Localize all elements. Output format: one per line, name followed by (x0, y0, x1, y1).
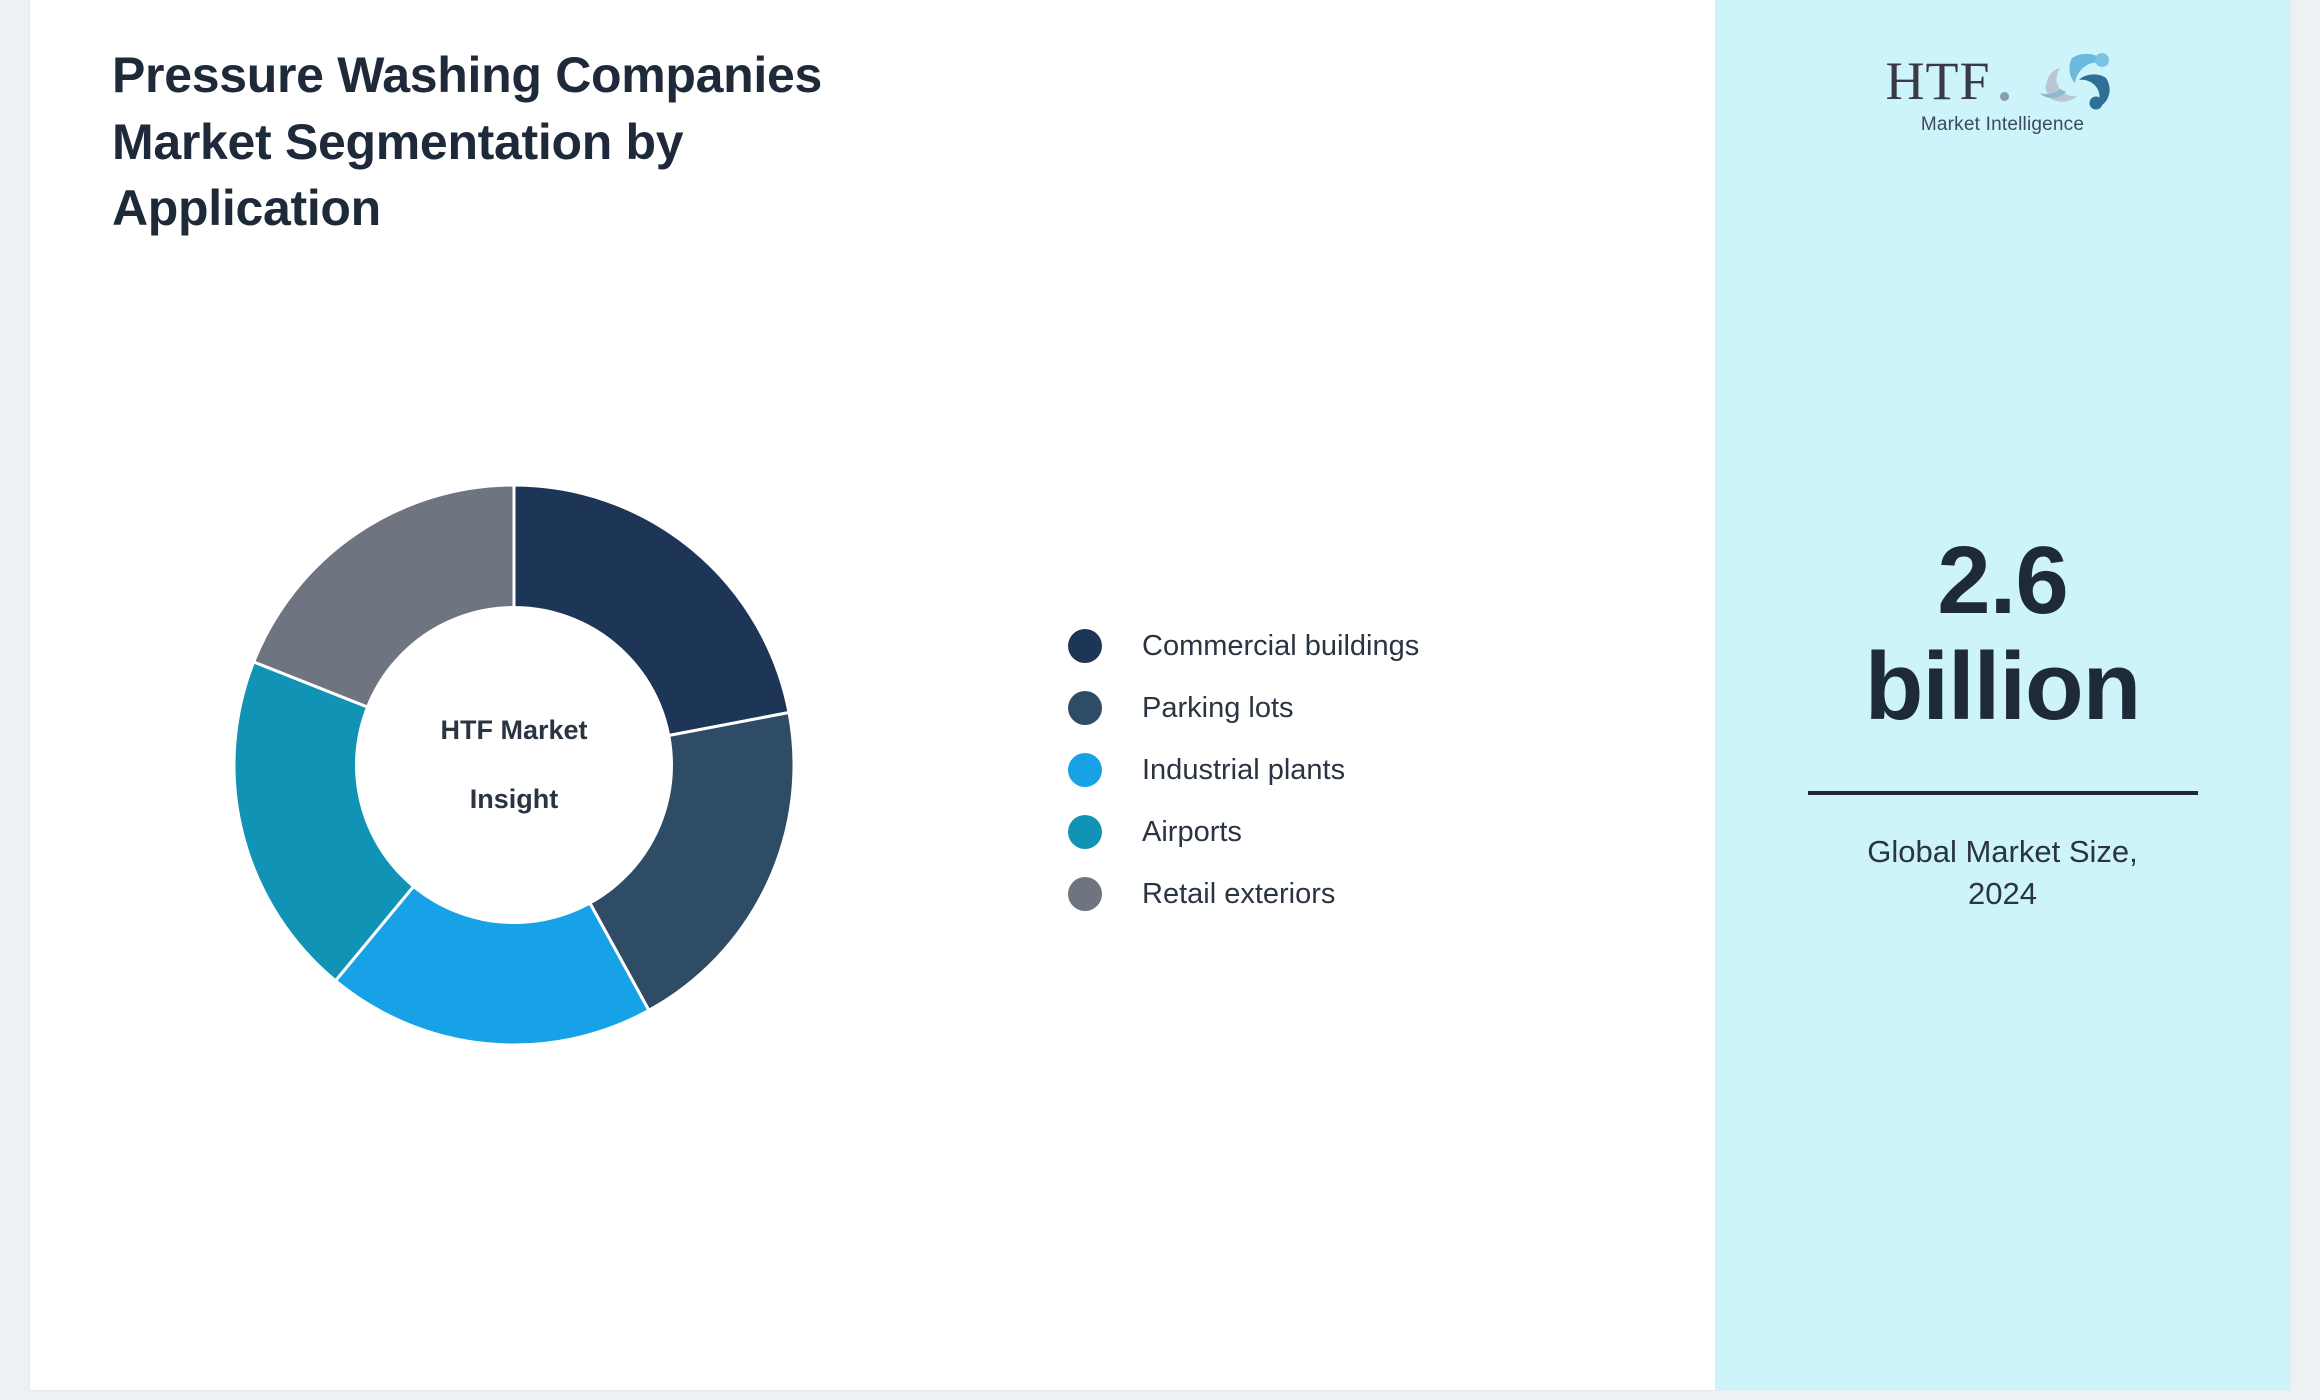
legend-item-label: Industrial plants (1142, 754, 1345, 787)
donut-hole (355, 606, 673, 924)
logo-tagline: Market Intelligence (1878, 114, 2128, 136)
legend-item[interactable]: Airports (1068, 801, 1588, 863)
page-title: Pressure Washing Companies Market Segmen… (112, 42, 942, 242)
htf-people-circle-icon (2010, 48, 2122, 115)
infographic-canvas: Pressure Washing Companies Market Segmen… (30, 0, 2290, 1390)
legend-dot-icon (1068, 691, 1102, 725)
stat-caption: Global Market Size, 2024 (1793, 831, 2213, 915)
legend-dot-icon (1068, 877, 1102, 911)
donut-chart-svg (234, 485, 794, 1045)
legend-item[interactable]: Industrial plants (1068, 739, 1588, 801)
stat-value: 2.6 billion (1793, 528, 2213, 739)
stat-caption-line-2: 2024 (1793, 873, 2213, 915)
logo-dot-icon (2000, 92, 2009, 101)
stat-caption-line-1: Global Market Size, (1793, 831, 2213, 873)
legend-item-label: Retail exteriors (1142, 878, 1335, 911)
legend-item[interactable]: Parking lots (1068, 677, 1588, 739)
market-size-stat: 2.6 billion Global Market Size, 2024 (1793, 528, 2213, 915)
legend-item[interactable]: Commercial buildings (1068, 615, 1588, 677)
logo-wordmark: HTF (1886, 54, 1991, 108)
donut-chart: HTF Market Insight (234, 485, 794, 1045)
stat-divider (1808, 791, 2198, 795)
brand-logo: HTF Market Intelligence (1878, 48, 2128, 158)
chart-panel: Pressure Washing Companies Market Segmen… (30, 0, 1715, 1390)
legend-item-label: Commercial buildings (1142, 630, 1419, 663)
stat-value-line-2: billion (1793, 634, 2213, 740)
stat-value-line-1: 2.6 (1793, 528, 2213, 634)
stat-sidebar: HTF Market Intelligence (1715, 0, 2290, 1390)
logo-wordmark-row: HTF (1878, 48, 2128, 110)
legend-dot-icon (1068, 753, 1102, 787)
legend-dot-icon (1068, 629, 1102, 663)
legend-item-label: Airports (1142, 816, 1242, 849)
legend-item-label: Parking lots (1142, 692, 1294, 725)
legend-item[interactable]: Retail exteriors (1068, 863, 1588, 925)
legend-dot-icon (1068, 815, 1102, 849)
chart-legend: Commercial buildings Parking lots Indust… (1068, 615, 1588, 925)
